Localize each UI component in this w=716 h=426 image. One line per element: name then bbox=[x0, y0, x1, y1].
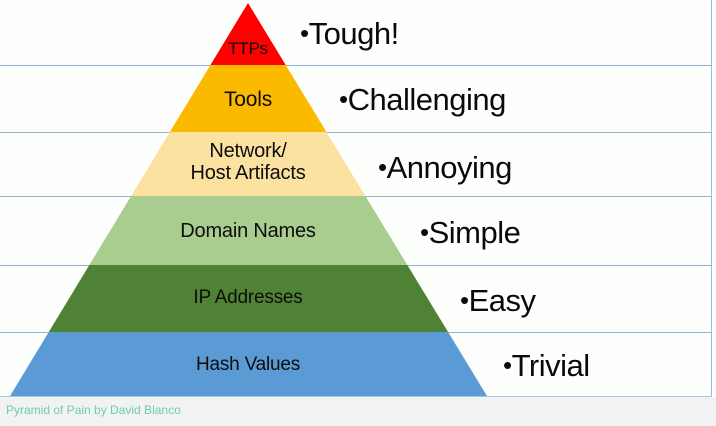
bullet-icon: • bbox=[420, 217, 429, 247]
pain-label-1: •Tough! bbox=[300, 18, 399, 49]
footer-bar: Pyramid of Pain by David Blanco bbox=[0, 397, 716, 426]
bullet-icon: • bbox=[300, 18, 309, 48]
row-divider-5 bbox=[0, 332, 712, 333]
footer-caption: Pyramid of Pain by David Blanco bbox=[6, 403, 181, 417]
slide-content-area bbox=[0, 0, 712, 397]
row-divider-1 bbox=[0, 65, 712, 66]
bullet-icon: • bbox=[503, 350, 512, 380]
pain-label-3: •Annoying bbox=[378, 152, 512, 183]
tier-label-1: TTPs bbox=[0, 40, 496, 59]
row-divider-3 bbox=[0, 196, 712, 197]
pain-label-2: •Challenging bbox=[339, 84, 506, 115]
bullet-icon: • bbox=[460, 285, 469, 315]
slide-canvas: TTPsToolsNetwork/ Host ArtifactsDomain N… bbox=[0, 0, 716, 426]
pain-label-6: •Trivial bbox=[503, 350, 590, 381]
pain-label-4: •Simple bbox=[420, 217, 520, 248]
row-divider-2 bbox=[0, 132, 712, 133]
pain-label-text: Annoying bbox=[387, 150, 512, 185]
pain-label-5: •Easy bbox=[460, 285, 536, 316]
tier-label-5: IP Addresses bbox=[0, 288, 496, 309]
bullet-icon: • bbox=[378, 152, 387, 182]
row-divider-4 bbox=[0, 265, 712, 266]
bullet-icon: • bbox=[339, 84, 348, 114]
pain-label-text: Challenging bbox=[348, 82, 506, 117]
pain-label-text: Trivial bbox=[512, 348, 590, 383]
pain-label-text: Tough! bbox=[309, 16, 399, 51]
tier-label-6: Hash Values bbox=[0, 355, 496, 376]
pain-label-text: Easy bbox=[469, 283, 536, 318]
pain-label-text: Simple bbox=[429, 215, 521, 250]
